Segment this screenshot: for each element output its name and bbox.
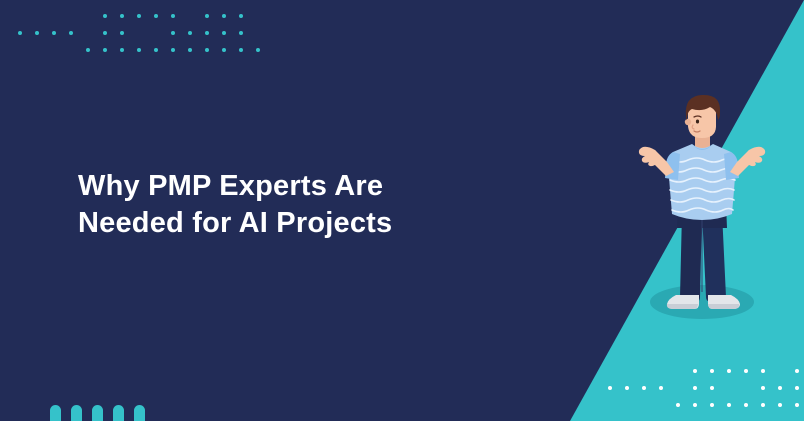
- grid-dot: [154, 14, 158, 18]
- grid-dot: [120, 31, 124, 35]
- grid-dot: [778, 403, 782, 407]
- grid-dot: [222, 14, 226, 18]
- grid-dot: [239, 48, 243, 52]
- grid-dot: [120, 48, 124, 52]
- grid-dot: [222, 31, 226, 35]
- grid-dot: [239, 31, 243, 35]
- grid-dot: [52, 31, 56, 35]
- grid-dot: [18, 31, 22, 35]
- grid-dot: [727, 403, 731, 407]
- shrugging-person-illustration: [636, 92, 768, 324]
- grid-dot: [608, 386, 612, 390]
- grid-dot: [222, 48, 226, 52]
- grid-dot: [795, 369, 799, 373]
- rounded-bar: [92, 405, 103, 421]
- grid-dot: [188, 31, 192, 35]
- grid-dot: [205, 48, 209, 52]
- grid-dot: [778, 386, 782, 390]
- left-hand: [639, 147, 660, 166]
- grid-dot: [137, 48, 141, 52]
- rounded-bar: [134, 405, 145, 421]
- grid-dot: [171, 31, 175, 35]
- grid-dot: [35, 31, 39, 35]
- right-shoe-sole: [708, 304, 739, 309]
- grid-dot: [103, 48, 107, 52]
- grid-dot: [761, 386, 765, 390]
- grid-dot: [710, 369, 714, 373]
- grid-dot: [727, 369, 731, 373]
- grid-dot: [154, 48, 158, 52]
- grid-dot: [256, 48, 260, 52]
- grid-dot: [761, 403, 765, 407]
- rounded-bar: [50, 405, 61, 421]
- grid-dot: [795, 386, 799, 390]
- blog-header-banner: Why PMP Experts Are Needed for AI Projec…: [0, 0, 804, 421]
- grid-dot: [103, 14, 107, 18]
- ear: [685, 119, 691, 125]
- grid-dot: [744, 369, 748, 373]
- grid-dot: [642, 386, 646, 390]
- grid-dot: [710, 403, 714, 407]
- grid-dot: [205, 31, 209, 35]
- grid-dot: [761, 369, 765, 373]
- grid-dot: [693, 386, 697, 390]
- grid-dot: [137, 14, 141, 18]
- grid-dot: [795, 403, 799, 407]
- grid-dot: [693, 369, 697, 373]
- eye: [696, 120, 699, 124]
- grid-dot: [103, 31, 107, 35]
- rounded-bar: [113, 405, 124, 421]
- grid-dot: [239, 14, 243, 18]
- grid-dot: [710, 386, 714, 390]
- left-shoe-sole: [667, 304, 698, 309]
- grid-dot: [625, 386, 629, 390]
- grid-dot: [205, 14, 209, 18]
- grid-dot: [744, 403, 748, 407]
- page-title: Why PMP Experts Are Needed for AI Projec…: [78, 168, 508, 242]
- grid-dot: [676, 403, 680, 407]
- grid-dot: [188, 48, 192, 52]
- right-hand: [744, 147, 765, 166]
- grid-dot: [120, 14, 124, 18]
- rounded-bar: [71, 405, 82, 421]
- grid-dot: [659, 386, 663, 390]
- grid-dot: [693, 403, 697, 407]
- grid-dot: [86, 48, 90, 52]
- grid-dot: [171, 14, 175, 18]
- grid-dot: [69, 31, 73, 35]
- grid-dot: [171, 48, 175, 52]
